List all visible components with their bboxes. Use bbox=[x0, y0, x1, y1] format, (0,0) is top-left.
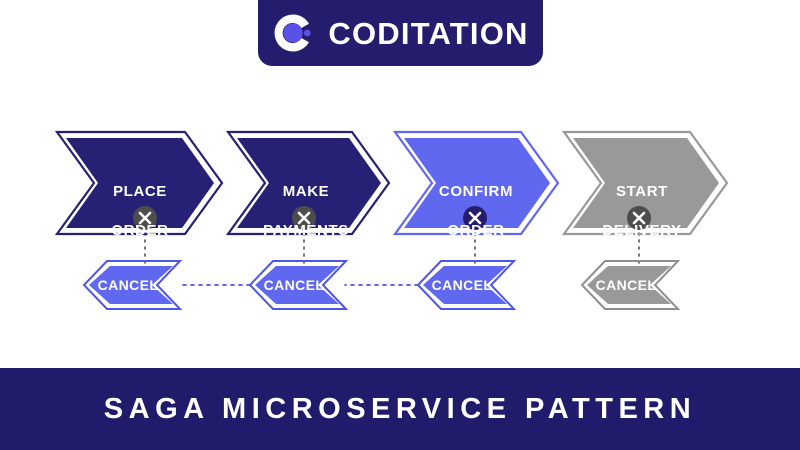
cancel-chevron-make-payments[interactable] bbox=[250, 261, 346, 309]
flow-diagram: PLACE ORDER MAKE PAYMENTS CONFIRM ORDER … bbox=[0, 118, 800, 318]
flow-svg bbox=[0, 118, 800, 318]
coditation-ring-icon bbox=[272, 12, 314, 54]
cancel-chevron-confirm-order[interactable] bbox=[418, 261, 514, 309]
bottom-banner: SAGA MICROSERVICE PATTERN bbox=[0, 368, 800, 450]
banner-title: SAGA MICROSERVICE PATTERN bbox=[104, 395, 696, 424]
cancel-chevron-place-order[interactable] bbox=[84, 261, 180, 309]
cancel-chevron-body-2 bbox=[255, 266, 339, 304]
step-x-badge-1[interactable] bbox=[133, 206, 157, 230]
cancel-chevron-start-delivery[interactable] bbox=[582, 261, 678, 309]
step-x-badge-4[interactable] bbox=[627, 206, 651, 230]
saga-pattern-infographic: CODITATION bbox=[0, 0, 800, 450]
cancel-chevron-body-4 bbox=[587, 266, 671, 304]
step-x-badge-2[interactable] bbox=[292, 206, 316, 230]
brand-bar: CODITATION bbox=[258, 0, 543, 66]
step-x-badge-3[interactable] bbox=[463, 206, 487, 230]
cancel-chevron-body-3 bbox=[423, 266, 507, 304]
brand-name: CODITATION bbox=[328, 18, 528, 49]
cancel-chevron-body-1 bbox=[89, 266, 173, 304]
